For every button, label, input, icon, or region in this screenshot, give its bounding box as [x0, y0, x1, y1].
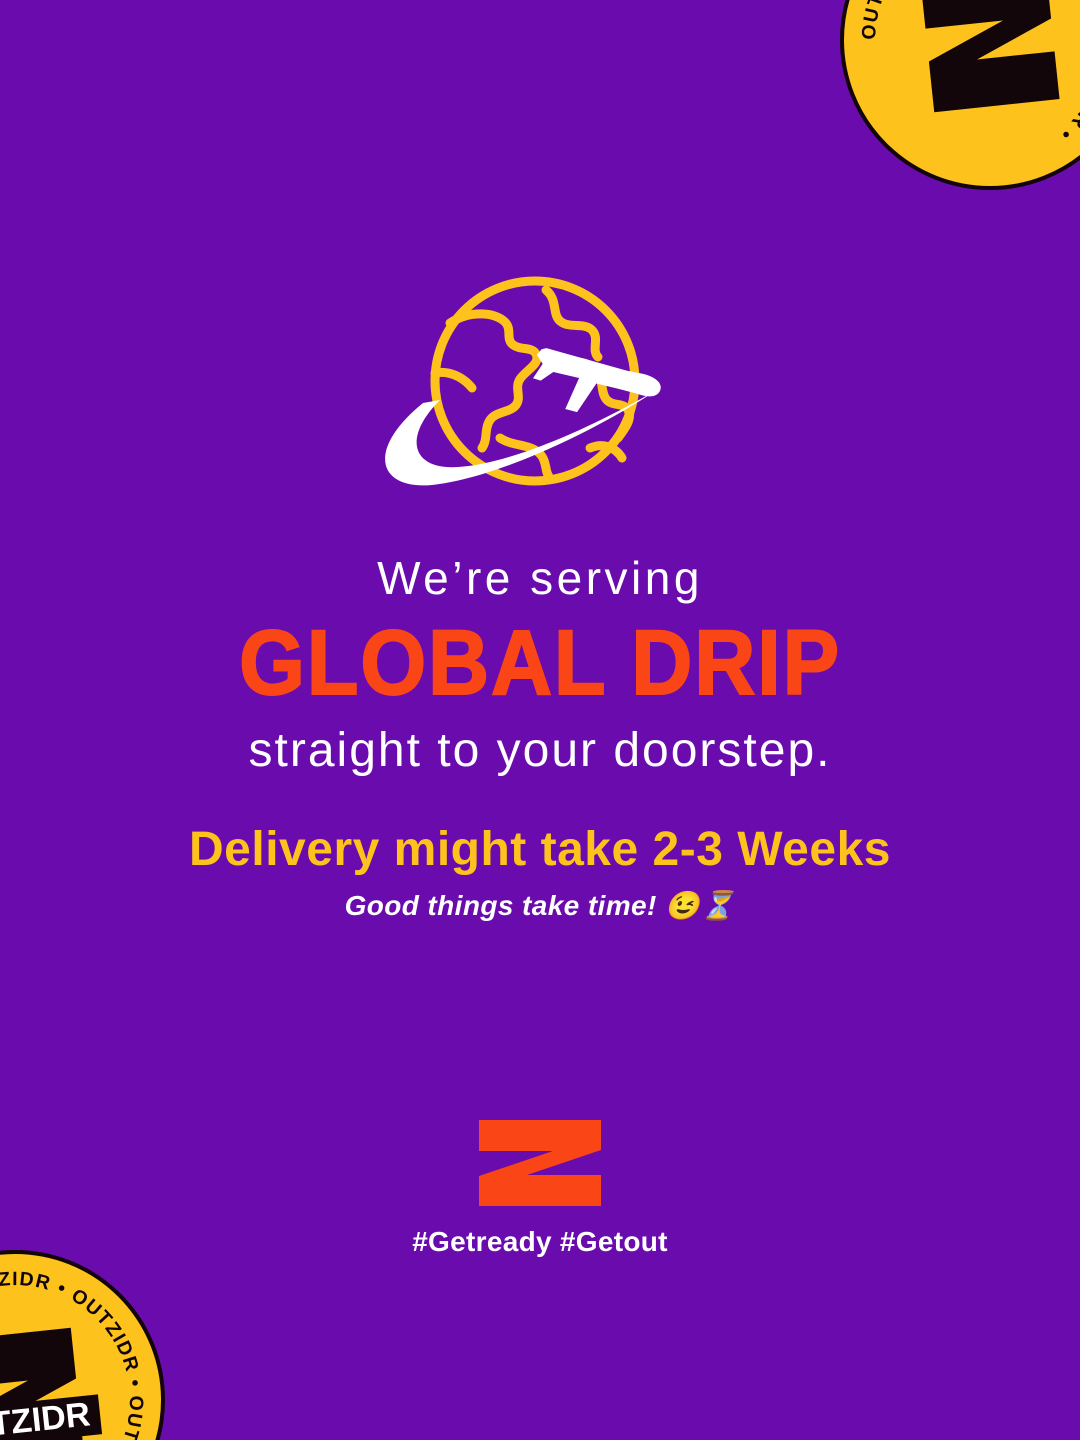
badge-z-logo-top-right: [908, 0, 1073, 122]
globe-airplane-icon: [360, 278, 720, 513]
headline-block: We’re serving GLOBAL DRIP straight to yo…: [0, 552, 1080, 778]
outzidr-badge-top-right: OUTZIDR • OUTZIDR • OUTZIDR • OUTZIDR •: [840, 0, 1080, 190]
delivery-note: Good things take time! 😉⏳: [0, 889, 1080, 923]
headline-kicker: We’re serving: [0, 552, 1080, 605]
headline-subline: straight to your doorstep.: [0, 723, 1080, 778]
brand-z-logo: [475, 1118, 605, 1208]
footer-block: #Getready #Getout: [0, 1118, 1080, 1258]
delivery-estimate: Delivery might take 2-3 Weeks: [0, 822, 1080, 877]
footer-hashtags: #Getready #Getout: [0, 1226, 1080, 1258]
promo-poster: OUTZIDR • OUTZIDR • OUTZIDR • OUTZIDR • …: [0, 0, 1080, 1440]
delivery-block: Delivery might take 2-3 Weeks Good thing…: [0, 822, 1080, 923]
outzidr-badge-bottom-left: OUTZIDR • OUTZIDR • OUTZIDR • OUTZIDR • …: [0, 1250, 165, 1440]
headline-hero: GLOBAL DRIP: [43, 617, 1037, 709]
